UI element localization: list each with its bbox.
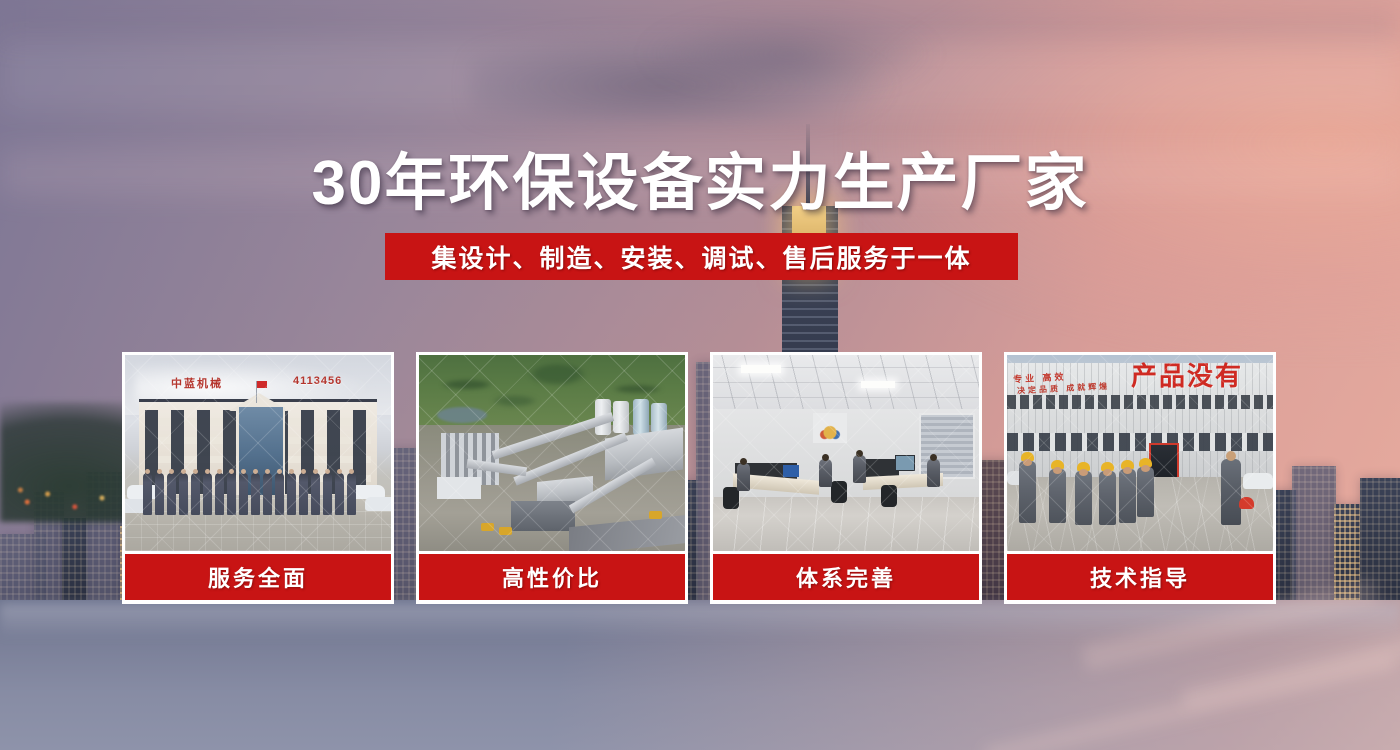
photo-industrial-plant-aerial: [419, 355, 685, 551]
promo-banner: 30年环保设备实力生产厂家 集设计、制造、安装、调试、售后服务于一体 中蓝机械 …: [0, 0, 1400, 750]
card-label-system: 体系完善: [713, 554, 979, 600]
card-label-text: 技术指导: [1090, 561, 1190, 593]
cloud-formation-secondary: [640, 12, 940, 82]
card-label-training: 技术指导: [1007, 554, 1273, 600]
building-sign-text: 中蓝机械: [171, 375, 223, 391]
feature-card-value[interactable]: 高性价比: [416, 352, 688, 604]
card-label-value: 高性价比: [419, 554, 685, 600]
red-helmet: [1239, 497, 1254, 509]
feature-card-system[interactable]: 体系完善: [710, 352, 982, 604]
subtitle-banner: 集设计、制造、安装、调试、售后服务于一体: [385, 233, 1018, 280]
page-title: 30年环保设备实力生产厂家: [0, 132, 1400, 222]
photo-office-interior: [713, 355, 979, 551]
subtitle-text: 集设计、制造、安装、调试、售后服务于一体: [431, 239, 971, 275]
card-label-service: 服务全面: [125, 554, 391, 600]
card-label-text: 高性价比: [502, 561, 602, 593]
factory-wall-large-text: 产品没有: [1131, 363, 1243, 389]
card-label-text: 服务全面: [208, 561, 308, 593]
photo-factory-workers: 专业 高效 决定品质 成就辉煌 产品没有: [1007, 355, 1273, 551]
feature-card-service[interactable]: 中蓝机械 4113456 服务全面: [122, 352, 394, 604]
feature-card-list: 中蓝机械 4113456 服务全面: [122, 352, 1279, 604]
card-label-text: 体系完善: [796, 561, 896, 593]
building-phone-text: 4113456: [293, 375, 342, 387]
photo-company-headquarters: 中蓝机械 4113456: [125, 355, 391, 551]
staff-lineup: [143, 473, 375, 517]
supervisor-figure: [1221, 459, 1241, 525]
wall-poster: [813, 413, 847, 443]
feature-card-training[interactable]: 专业 高效 决定品质 成就辉煌 产品没有 技术指导: [1004, 352, 1276, 604]
